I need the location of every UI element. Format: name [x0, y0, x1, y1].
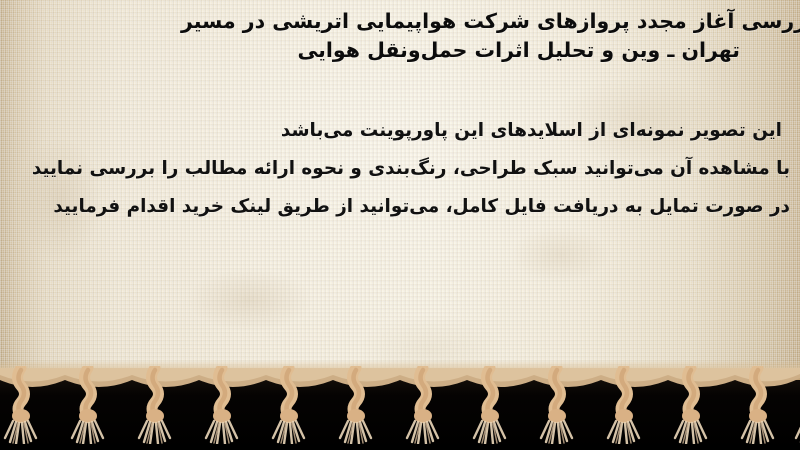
slide-title: ررسی آغاز مجدد پروازهای شرکت هواپیمایی ا…: [0, 7, 800, 65]
slide-body-line-2: با مشاهده آن می‌توانید سبک طراحی، رنگ‌بن…: [6, 150, 794, 188]
fringe-knot: [59, 366, 117, 444]
carpet-fringe-tassels: [0, 360, 800, 450]
fringe-knot: [461, 366, 519, 444]
fringe-knot: [193, 366, 251, 444]
fringe-knot-row: [0, 366, 800, 450]
slide-body: این تصویر نمونه‌ای از اسلایدهای این پاور…: [6, 112, 794, 226]
fringe-knot: [783, 366, 800, 444]
fringe-knot: [260, 366, 318, 444]
fringe-knot: [662, 366, 720, 444]
slide-title-line-2: تهران ـ وین و تحلیل اثرات حمل‌ونقل هوایی: [0, 36, 800, 65]
slide-text-layer: ررسی آغاز مجدد پروازهای شرکت هواپیمایی ا…: [0, 0, 800, 378]
fringe-knot: [729, 366, 787, 444]
slide-title-line-1: ررسی آغاز مجدد پروازهای شرکت هواپیمایی ا…: [0, 7, 800, 36]
fringe-knot: [327, 366, 385, 444]
fringe-knot: [394, 366, 452, 444]
fringe-knot: [528, 366, 586, 444]
fringe-knot: [595, 366, 653, 444]
slide-body-line-1: این تصویر نمونه‌ای از اسلایدهای این پاور…: [6, 112, 794, 150]
fringe-knot: [126, 366, 184, 444]
fringe-knot: [0, 366, 50, 444]
slide-body-line-3: در صورت تمایل به دریافت فایل کامل، می‌تو…: [6, 188, 794, 226]
slide-canvas: ررسی آغاز مجدد پروازهای شرکت هواپیمایی ا…: [0, 0, 800, 450]
